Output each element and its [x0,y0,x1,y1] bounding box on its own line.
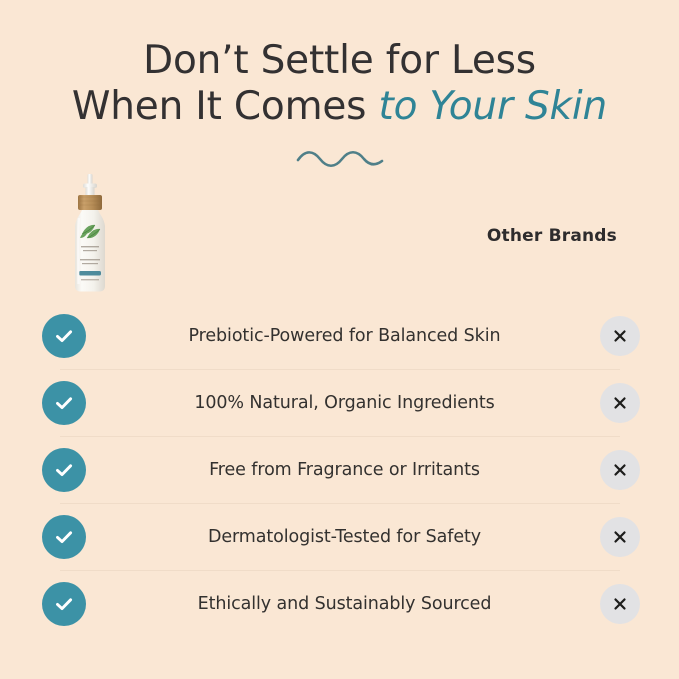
close-icon [600,517,640,557]
ours-cell [0,582,128,626]
check-icon [42,381,86,425]
feature-label: Ethically and Sustainably Sourced [128,594,561,614]
headline-accent-text: to Your Skin [378,84,607,129]
feature-label: Free from Fragrance or Irritants [128,460,561,480]
check-icon [42,515,86,559]
close-icon [600,383,640,423]
table-row: Prebiotic-Powered for Balanced Skin [0,302,679,369]
wavy-divider-icon [295,146,385,170]
other-cell [561,450,679,490]
ours-cell [0,515,128,559]
close-icon [600,316,640,356]
check-icon [42,582,86,626]
ours-cell [0,381,128,425]
other-cell [561,316,679,356]
headline-line-2-plain: When It Comes [72,84,379,129]
table-row: 100% Natural, Organic Ingredients [0,369,679,436]
other-cell [561,517,679,557]
close-icon [600,450,640,490]
table-row: Ethically and Sustainably Sourced [0,570,679,637]
check-icon [42,314,86,358]
other-cell [561,383,679,423]
table-row: Dermatologist-Tested for Safety [0,503,679,570]
check-icon [42,448,86,492]
comparison-rows: Prebiotic-Powered for Balanced Skin 100%… [0,302,679,637]
close-icon [600,584,640,624]
product-bottle-image [62,174,118,292]
page-title: Don’t Settle for Less When It Comes to Y… [0,38,679,130]
other-cell [561,584,679,624]
headline-line-2: When It Comes to Your Skin [0,84,679,130]
comparison-infographic: Don’t Settle for Less When It Comes to Y… [0,0,679,679]
ours-cell [0,314,128,358]
table-row: Free from Fragrance or Irritants [0,436,679,503]
headline-line-1: Don’t Settle for Less [0,38,679,84]
feature-label: Prebiotic-Powered for Balanced Skin [128,326,561,346]
ours-cell [0,448,128,492]
column-header-other-brands: Other Brands [487,226,617,246]
feature-label: 100% Natural, Organic Ingredients [128,393,561,413]
feature-label: Dermatologist-Tested for Safety [128,527,561,547]
